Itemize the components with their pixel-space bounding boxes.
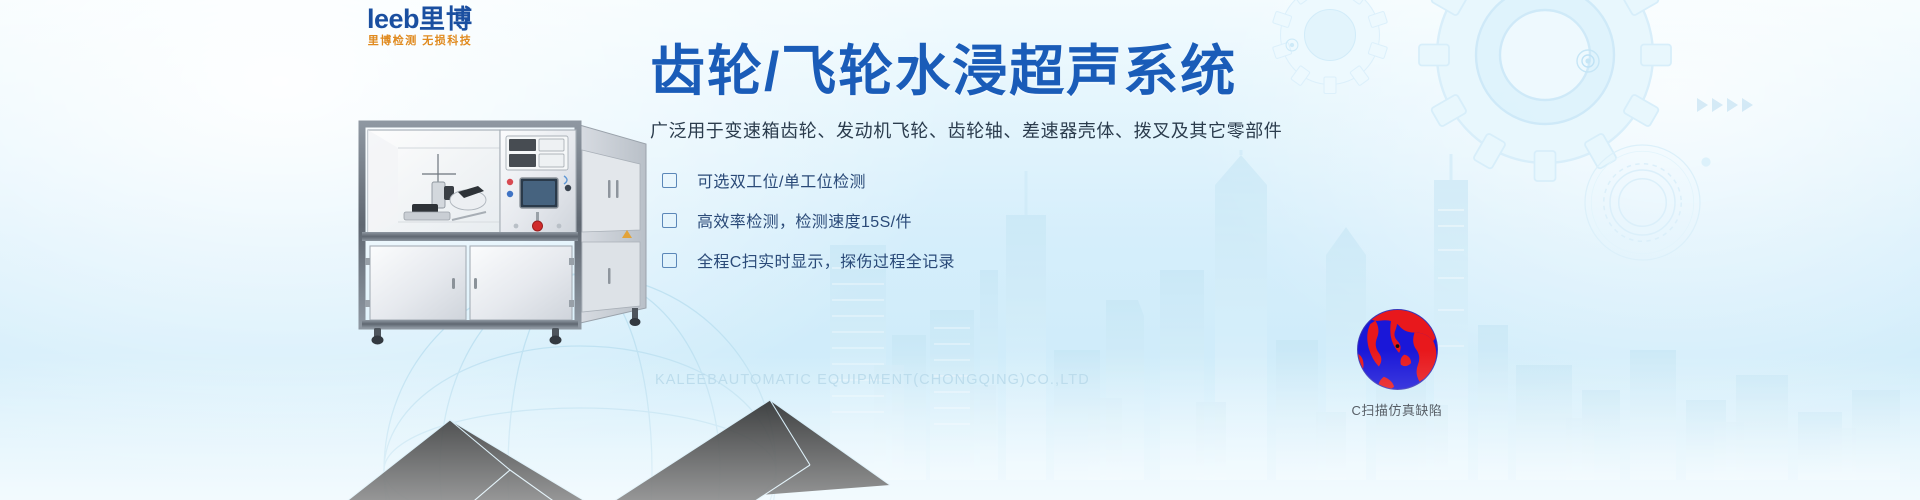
brand-logo[interactable]: leeb里博 里博检测 无损科技 bbox=[345, 6, 495, 48]
feature-item[interactable]: 可选双工位/单工位检测 bbox=[650, 163, 1710, 197]
hero-subtitle: 广泛用于变速箱齿轮、发动机飞轮、齿轮轴、差速器壳体、拨叉及其它零部件 bbox=[650, 117, 1710, 143]
logo-latin: leeb bbox=[367, 4, 419, 34]
cscan-sample: C扫描仿真缺陷 bbox=[1322, 307, 1472, 419]
company-name-watermark: KALEEBAUTOMATIC EQUIPMENT(CHONGQING)CO.,… bbox=[655, 372, 1090, 388]
hero-copy: 齿轮/飞轮水浸超声系统 广泛用于变速箱齿轮、发动机飞轮、齿轮轴、差速器壳体、拨叉… bbox=[650, 42, 1710, 283]
checkbox-outline-icon bbox=[662, 253, 677, 268]
logo-chinese: 里博 bbox=[419, 4, 473, 34]
cscan-caption: C扫描仿真缺陷 bbox=[1322, 400, 1472, 419]
feature-label: 高效率检测，检测速度15S/件 bbox=[697, 208, 912, 232]
feature-item[interactable]: 全程C扫实时显示，探伤过程全记录 bbox=[650, 243, 1710, 277]
logo-wordmark: leeb里博 bbox=[345, 6, 495, 33]
product-image-ultrasonic-machine bbox=[340, 100, 660, 350]
feature-label: 全程C扫实时显示，探伤过程全记录 bbox=[697, 248, 955, 272]
feature-item[interactable]: 高效率检测，检测速度15S/件 bbox=[650, 203, 1710, 237]
logo-tagline: 里博检测 无损科技 bbox=[345, 36, 495, 47]
page-title: 齿轮/飞轮水浸超声系统 bbox=[650, 42, 1710, 101]
checkbox-outline-icon bbox=[662, 173, 677, 188]
cscan-defect-map-image bbox=[1355, 307, 1440, 392]
feature-list: 可选双工位/单工位检测 高效率检测，检测速度15S/件 全程C扫实时显示，探伤过… bbox=[650, 163, 1710, 277]
feature-label: 可选双工位/单工位检测 bbox=[697, 168, 866, 192]
checkbox-outline-icon bbox=[662, 213, 677, 228]
promo-banner: leeb里博 里博检测 无损科技 bbox=[0, 0, 1920, 500]
